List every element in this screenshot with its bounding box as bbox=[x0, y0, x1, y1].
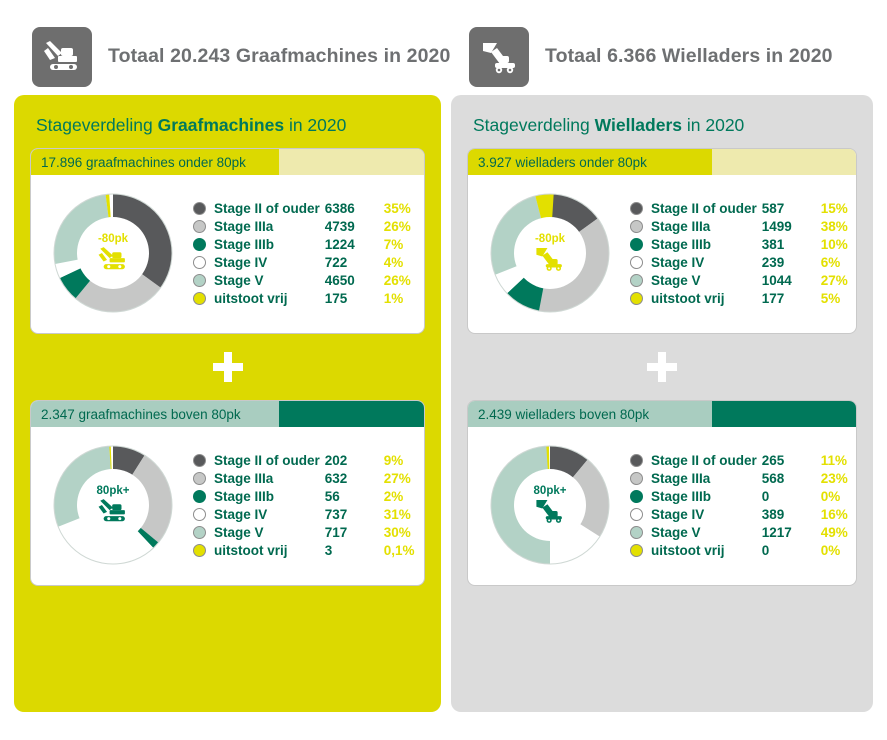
legend-swatch-stage2 bbox=[193, 454, 206, 467]
legend-label: Stage II of ouder bbox=[651, 453, 757, 468]
legend-swatch-stage3a bbox=[193, 220, 206, 233]
legend-swatch-stage4 bbox=[630, 508, 643, 521]
legend-label: Stage V bbox=[651, 273, 757, 288]
legend-pct: 5% bbox=[821, 291, 857, 306]
donut-center: -80pk bbox=[514, 217, 586, 289]
legend-label: Stage IIIa bbox=[651, 471, 757, 486]
legend-pct: 35% bbox=[384, 201, 425, 216]
legend-pct: 16% bbox=[821, 507, 857, 522]
legend-value: 717 bbox=[325, 525, 379, 540]
donut-center: -80pk bbox=[77, 217, 149, 289]
legend-pct: 10% bbox=[821, 237, 857, 252]
legend-swatch-stage5 bbox=[193, 274, 206, 287]
excavator-icon bbox=[32, 27, 92, 87]
excavator-icon bbox=[96, 246, 130, 272]
donut-chart: 80pk+ bbox=[484, 439, 616, 571]
donut-center-label: -80pk bbox=[535, 234, 565, 246]
legend-swatch-uitstootvrij bbox=[193, 292, 206, 305]
legend-swatch-stage4 bbox=[630, 256, 643, 269]
legend: Stage II of ouder 6386 35% Stage IIIa 47… bbox=[185, 201, 425, 306]
legend-value: 1044 bbox=[762, 273, 816, 288]
panel-title-prefix: Stageverdeling bbox=[473, 115, 595, 135]
panels-row: Stageverdeling Graafmachines in 2020 17.… bbox=[0, 95, 887, 712]
legend-pct: 1% bbox=[384, 291, 425, 306]
legend-label: Stage IIIa bbox=[214, 219, 320, 234]
legend-swatch-stage5 bbox=[630, 274, 643, 287]
panel-title-prefix: Stageverdeling bbox=[36, 115, 158, 135]
legend-value: 389 bbox=[762, 507, 816, 522]
legend-value: 1224 bbox=[325, 237, 379, 252]
legend-label: uitstoot vrij bbox=[214, 543, 320, 558]
legend-label: Stage IIIb bbox=[651, 489, 757, 504]
panel-graafmachines: Stageverdeling Graafmachines in 2020 17.… bbox=[14, 95, 441, 712]
legend-value: 568 bbox=[762, 471, 816, 486]
legend-pct: 49% bbox=[821, 525, 857, 540]
wheel-loader-icon bbox=[469, 27, 529, 87]
legend-value: 265 bbox=[762, 453, 816, 468]
panel-title-suffix: in 2020 bbox=[284, 115, 346, 135]
legend-label: uitstoot vrij bbox=[214, 291, 320, 306]
legend-pct: 0% bbox=[821, 543, 857, 558]
card-header-fill bbox=[279, 149, 424, 175]
panel-title-accent: Graafmachines bbox=[158, 115, 284, 135]
plus-separator bbox=[467, 334, 857, 400]
wheel-loader-icon bbox=[533, 246, 567, 272]
legend-value: 1217 bbox=[762, 525, 816, 540]
legend-label: Stage V bbox=[214, 525, 320, 540]
legend-value: 4739 bbox=[325, 219, 379, 234]
legend-pct: 23% bbox=[821, 471, 857, 486]
excavator-icon bbox=[96, 498, 130, 524]
legend: Stage II of ouder 265 11% Stage IIIa 568… bbox=[622, 453, 857, 558]
card-header: 2.347 graafmachines boven 80pk bbox=[31, 401, 424, 427]
legend-swatch-stage2 bbox=[630, 454, 643, 467]
legend-value: 381 bbox=[762, 237, 816, 252]
legend-swatch-uitstootvrij bbox=[193, 544, 206, 557]
card-header-label: 2.347 graafmachines boven 80pk bbox=[31, 401, 279, 427]
plus-icon bbox=[647, 352, 677, 382]
card-header-label: 17.896 graafmachines onder 80pk bbox=[31, 149, 279, 175]
donut-chart: -80pk bbox=[484, 187, 616, 319]
donut-center-label: 80pk+ bbox=[97, 486, 130, 498]
legend-value: 737 bbox=[325, 507, 379, 522]
legend-value: 1499 bbox=[762, 219, 816, 234]
legend: Stage II of ouder 587 15% Stage IIIa 149… bbox=[622, 201, 857, 306]
card-graafmachines-onder-80pk: 17.896 graafmachines onder 80pk bbox=[30, 148, 425, 334]
donut-center-label: -80pk bbox=[98, 234, 128, 246]
legend-label: Stage II of ouder bbox=[214, 453, 320, 468]
infographic-page: Totaal 20.243 Graafmachines in 2020 bbox=[0, 0, 887, 740]
legend-pct: 15% bbox=[821, 201, 857, 216]
legend-value: 177 bbox=[762, 291, 816, 306]
donut-center: 80pk+ bbox=[514, 469, 586, 541]
card-header-label: 3.927 wielladers onder 80pk bbox=[468, 149, 712, 175]
legend-value: 587 bbox=[762, 201, 816, 216]
card-header-fill bbox=[712, 401, 856, 427]
legend-swatch-stage3a bbox=[630, 472, 643, 485]
legend-swatch-stage2 bbox=[630, 202, 643, 215]
legend-label: Stage IIIa bbox=[651, 219, 757, 234]
legend-value: 722 bbox=[325, 255, 379, 270]
legend-label: Stage II of ouder bbox=[214, 201, 320, 216]
legend-value: 175 bbox=[325, 291, 379, 306]
legend-pct: 0% bbox=[821, 489, 857, 504]
legend-pct: 2% bbox=[384, 489, 425, 504]
legend-swatch-stage3b bbox=[630, 490, 643, 503]
legend-value: 3 bbox=[325, 543, 379, 558]
legend-label: Stage IIIb bbox=[651, 237, 757, 252]
card-header: 17.896 graafmachines onder 80pk bbox=[31, 149, 424, 175]
panel-title: Stageverdeling Wielladers in 2020 bbox=[473, 115, 857, 136]
legend-swatch-uitstootvrij bbox=[630, 292, 643, 305]
legend-swatch-stage3b bbox=[193, 490, 206, 503]
card-graafmachines-boven-80pk: 2.347 graafmachines boven 80pk bbox=[30, 400, 425, 586]
panel-title-suffix: in 2020 bbox=[682, 115, 744, 135]
legend-value: 202 bbox=[325, 453, 379, 468]
legend-swatch-stage3a bbox=[630, 220, 643, 233]
legend-pct: 9% bbox=[384, 453, 425, 468]
legend-swatch-stage2 bbox=[193, 202, 206, 215]
card-wielladers-boven-80pk: 2.439 wielladers boven 80pk bbox=[467, 400, 857, 586]
card-header-label: 2.439 wielladers boven 80pk bbox=[468, 401, 712, 427]
legend-swatch-stage4 bbox=[193, 508, 206, 521]
legend-pct: 4% bbox=[384, 255, 425, 270]
card-header: 2.439 wielladers boven 80pk bbox=[468, 401, 856, 427]
legend-value: 56 bbox=[325, 489, 379, 504]
wheel-loader-icon bbox=[533, 498, 567, 524]
legend-value: 0 bbox=[762, 489, 816, 504]
header-wielladers: Totaal 6.366 Wielladers in 2020 bbox=[447, 18, 887, 95]
donut-chart: -80pk bbox=[47, 187, 179, 319]
legend-label: Stage IV bbox=[651, 255, 757, 270]
legend-pct: 26% bbox=[384, 273, 425, 288]
header-title: Totaal 6.366 Wielladers in 2020 bbox=[545, 45, 833, 68]
plus-icon bbox=[213, 352, 243, 382]
legend: Stage II of ouder 202 9% Stage IIIa 632 … bbox=[185, 453, 425, 558]
card-header: 3.927 wielladers onder 80pk bbox=[468, 149, 856, 175]
legend-pct: 31% bbox=[384, 507, 425, 522]
legend-value: 4650 bbox=[325, 273, 379, 288]
legend-pct: 6% bbox=[821, 255, 857, 270]
card-body: -80pk bbox=[31, 175, 424, 333]
legend-value: 239 bbox=[762, 255, 816, 270]
legend-pct: 30% bbox=[384, 525, 425, 540]
legend-value: 632 bbox=[325, 471, 379, 486]
legend-label: Stage IIIb bbox=[214, 489, 320, 504]
donut-chart: 80pk+ bbox=[47, 439, 179, 571]
legend-pct: 7% bbox=[384, 237, 425, 252]
card-header-fill bbox=[712, 149, 856, 175]
legend-value: 0 bbox=[762, 543, 816, 558]
card-wielladers-onder-80pk: 3.927 wielladers onder 80pk bbox=[467, 148, 857, 334]
legend-label: Stage IIIb bbox=[214, 237, 320, 252]
header-title: Totaal 20.243 Graafmachines in 2020 bbox=[108, 45, 450, 68]
plus-separator bbox=[30, 334, 425, 400]
panel-wielladers: Stageverdeling Wielladers in 2020 3.927 … bbox=[451, 95, 873, 712]
legend-swatch-stage5 bbox=[193, 526, 206, 539]
panel-title-accent: Wielladers bbox=[595, 115, 682, 135]
legend-swatch-stage3b bbox=[630, 238, 643, 251]
legend-swatch-stage5 bbox=[630, 526, 643, 539]
legend-label: Stage V bbox=[214, 273, 320, 288]
legend-pct: 0,1% bbox=[384, 543, 425, 558]
donut-center: 80pk+ bbox=[77, 469, 149, 541]
header-graafmachines: Totaal 20.243 Graafmachines in 2020 bbox=[0, 18, 447, 95]
legend-label: Stage V bbox=[651, 525, 757, 540]
legend-swatch-stage3a bbox=[193, 472, 206, 485]
legend-label: Stage IV bbox=[214, 255, 320, 270]
legend-label: Stage II of ouder bbox=[651, 201, 757, 216]
legend-pct: 27% bbox=[384, 471, 425, 486]
legend-pct: 26% bbox=[384, 219, 425, 234]
legend-pct: 27% bbox=[821, 273, 857, 288]
card-body: 80pk+ bbox=[31, 427, 424, 585]
legend-label: uitstoot vrij bbox=[651, 291, 757, 306]
legend-pct: 11% bbox=[821, 453, 857, 468]
legend-swatch-uitstootvrij bbox=[630, 544, 643, 557]
panel-title: Stageverdeling Graafmachines in 2020 bbox=[36, 115, 425, 136]
legend-swatch-stage4 bbox=[193, 256, 206, 269]
legend-pct: 38% bbox=[821, 219, 857, 234]
card-header-fill bbox=[279, 401, 424, 427]
legend-label: uitstoot vrij bbox=[651, 543, 757, 558]
legend-label: Stage IV bbox=[214, 507, 320, 522]
top-headers: Totaal 20.243 Graafmachines in 2020 bbox=[0, 0, 887, 95]
legend-label: Stage IV bbox=[651, 507, 757, 522]
card-body: -80pk bbox=[468, 175, 856, 333]
legend-value: 6386 bbox=[325, 201, 379, 216]
legend-swatch-stage3b bbox=[193, 238, 206, 251]
legend-label: Stage IIIa bbox=[214, 471, 320, 486]
card-body: 80pk+ bbox=[468, 427, 856, 585]
donut-center-label: 80pk+ bbox=[534, 486, 567, 498]
